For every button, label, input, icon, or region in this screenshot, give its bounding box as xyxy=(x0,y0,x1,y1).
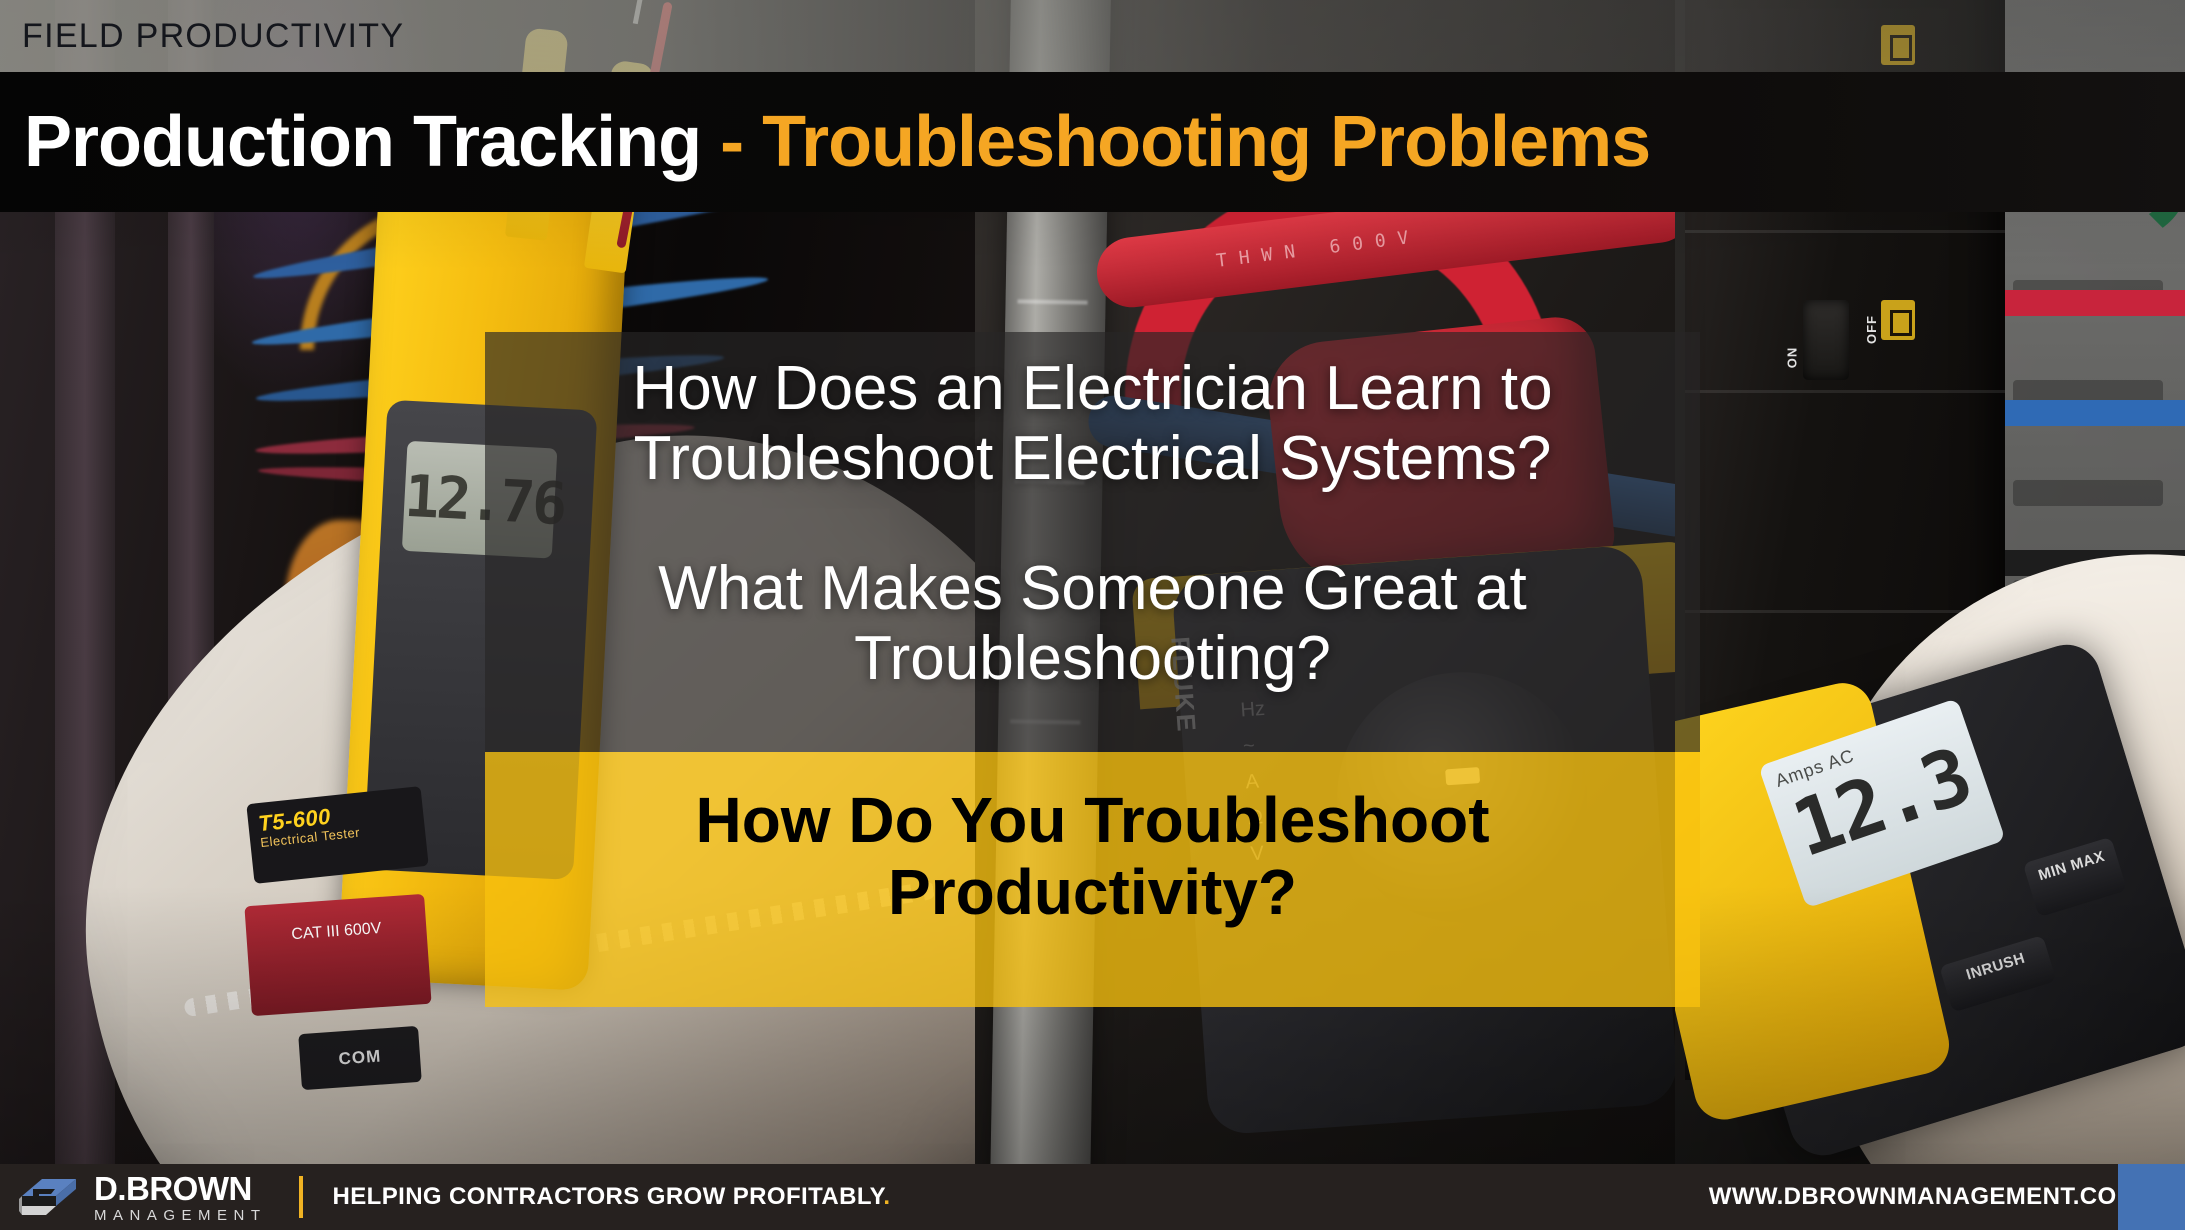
slide-root: 12.76 T5-600 Electrical Tester CAT III 6… xyxy=(0,0,2185,1230)
question-2: What Makes Someone Great at Troubleshoot… xyxy=(485,554,1700,694)
title-separator: - xyxy=(701,102,762,182)
title-bar: Production Tracking - Troubleshooting Pr… xyxy=(0,72,2185,212)
eyebrow-band: FIELD PRODUCTIVITY xyxy=(0,0,2185,72)
breaker-off-label: OFF xyxy=(1864,315,1879,344)
breaker-rib xyxy=(1685,230,2005,233)
inrush-button: INRUSH xyxy=(1939,935,2056,1012)
breaker-toggle xyxy=(1803,300,1849,380)
content-overlay: How Does an Electrician Learn to Trouble… xyxy=(485,332,1700,1007)
tester-cat-rating: CAT III 600V xyxy=(244,894,431,1016)
page-title: Production Tracking - Troubleshooting Pr… xyxy=(0,101,1650,183)
title-highlight: Troubleshooting Problems xyxy=(762,102,1650,182)
footer-divider xyxy=(299,1176,303,1218)
logo-name-primary: D.BROWN xyxy=(94,1172,267,1205)
tester-com-jack: COM xyxy=(298,1026,422,1090)
footer-tagline-text: HELPING CONTRACTORS GROW PROFITABLY xyxy=(333,1183,884,1210)
dbrown-wordmark: D.BROWN MANAGEMENT xyxy=(94,1172,267,1223)
footer-tagline: HELPING CONTRACTORS GROW PROFITABLY. xyxy=(333,1183,891,1211)
footer-bar: D.BROWN MANAGEMENT HELPING CONTRACTORS G… xyxy=(0,1164,2185,1230)
red-feeder-wire xyxy=(1975,290,2185,316)
footer-website[interactable]: WWW.DBROWNMANAGEMENT.COM xyxy=(1709,1183,2137,1211)
title-main: Production Tracking xyxy=(24,102,701,182)
conduit-scuff xyxy=(1018,299,1088,304)
breaker-on-label: ON xyxy=(1784,347,1799,369)
dbrown-logo-icon xyxy=(18,1174,80,1220)
question-highlight: How Do You Troubleshoot Productivity? xyxy=(485,784,1700,929)
blue-feeder-wire xyxy=(1975,400,2185,426)
footer-blue-cap xyxy=(2118,1164,2185,1230)
minmax-button: MIN MAX xyxy=(2023,837,2127,917)
logo-name-secondary: MANAGEMENT xyxy=(94,1208,267,1223)
question-1: How Does an Electrician Learn to Trouble… xyxy=(485,354,1700,494)
eyebrow-label: FIELD PRODUCTIVITY xyxy=(0,17,404,56)
breaker-rating-badge xyxy=(1881,300,1915,340)
footer-tagline-dot: . xyxy=(883,1183,890,1210)
breaker-rib xyxy=(1685,390,2005,393)
